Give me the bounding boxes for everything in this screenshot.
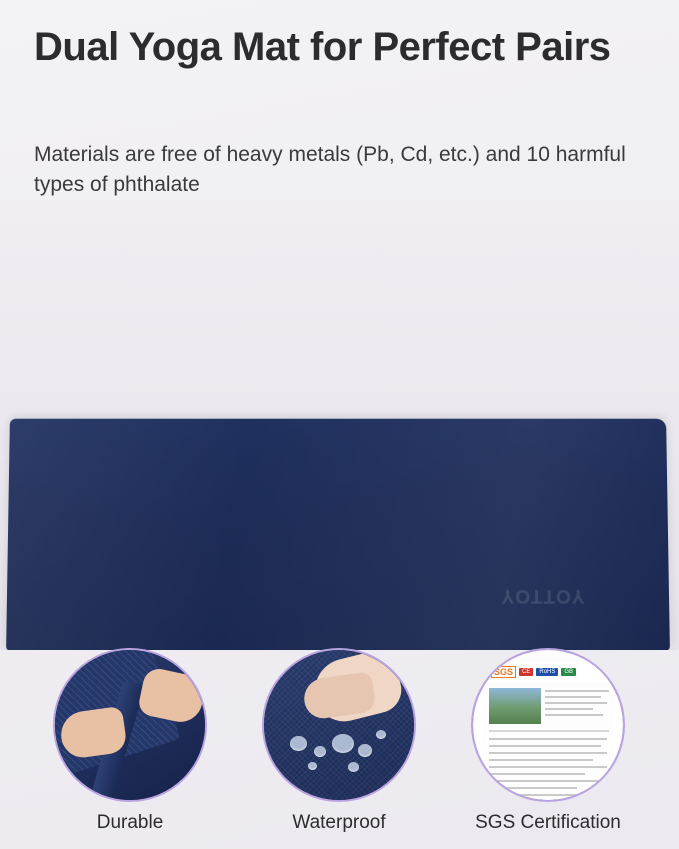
- product-infographic: Dual Yoga Mat for Perfect Pairs Material…: [0, 0, 679, 849]
- sgs-table-row: [489, 752, 607, 754]
- hero-photo: YOTTOY: [0, 200, 679, 650]
- page-subtitle: Materials are free of heavy metals (Pb, …: [34, 140, 644, 200]
- page-title: Dual Yoga Mat for Perfect Pairs: [34, 24, 634, 71]
- feature-caption-sgs: SGS Certification: [448, 812, 648, 834]
- mat-brand-logo: YOTTOY: [501, 584, 585, 606]
- cert-chip-ce: CE: [519, 668, 533, 676]
- yoga-mat: YOTTOY: [6, 419, 670, 650]
- sgs-table-row: [489, 773, 585, 775]
- water-droplet: [290, 736, 307, 751]
- durable-image: [53, 648, 207, 802]
- water-droplet: [376, 730, 386, 739]
- sgs-image: SGS CE RoHS GB: [471, 648, 625, 802]
- sgs-logo: SGS: [491, 666, 516, 678]
- sgs-table-row: [489, 745, 601, 747]
- water-droplet: [348, 762, 359, 772]
- cert-chip-rohs: RoHS: [536, 668, 558, 676]
- feature-waterproof: Waterproof: [239, 648, 439, 834]
- cert-chip-gb: GB: [561, 668, 576, 676]
- water-droplet: [314, 746, 326, 757]
- sgs-photo-thumb: [489, 688, 541, 724]
- sgs-table-row: [489, 794, 599, 796]
- feature-caption-waterproof: Waterproof: [239, 812, 439, 834]
- sgs-text-line: [545, 696, 601, 698]
- feature-sgs: SGS CE RoHS GB: [448, 648, 648, 834]
- sgs-text-line: [545, 690, 609, 692]
- sgs-text-line: [545, 708, 593, 710]
- sgs-table-row: [489, 759, 593, 761]
- waterproof-image: [262, 648, 416, 802]
- sgs-table-row: [489, 787, 577, 789]
- sgs-table-row: [489, 766, 607, 768]
- sgs-logo-band: SGS CE RoHS GB: [483, 662, 621, 682]
- feature-durable: Durable: [30, 648, 230, 834]
- sgs-table-row: [489, 780, 605, 782]
- feature-row: Durable Waterproof S: [0, 648, 679, 849]
- sgs-document: SGS CE RoHS GB: [483, 654, 613, 800]
- water-droplet: [332, 734, 354, 753]
- sgs-divider: [489, 730, 609, 732]
- mat-highlight: [6, 419, 670, 650]
- feature-caption-durable: Durable: [30, 812, 230, 834]
- sgs-text-line: [545, 714, 603, 716]
- sgs-text-line: [545, 702, 607, 704]
- water-droplet: [358, 744, 372, 757]
- sgs-table-row: [489, 738, 607, 740]
- water-droplet: [308, 762, 317, 770]
